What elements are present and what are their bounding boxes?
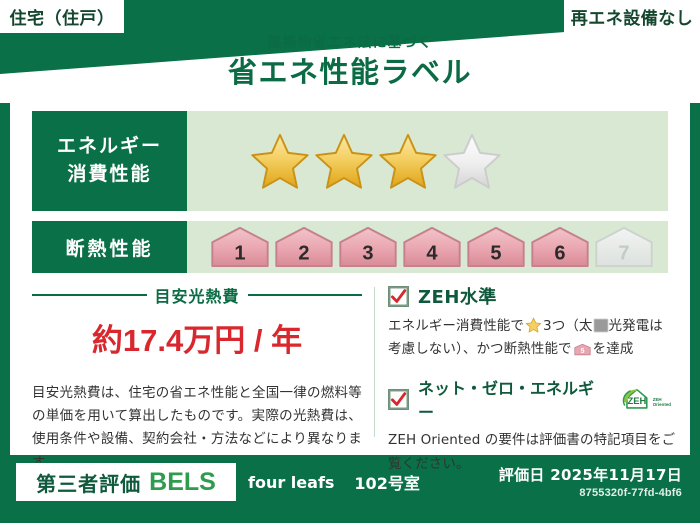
house-icon-level-6: 6 — [529, 226, 591, 268]
cost-heading: 目安光熱費 — [155, 283, 240, 307]
label-footer: 第三者評価 BELS four leafs 102号室 評価日 2025年11月… — [0, 455, 700, 523]
house-icon-level-4: 4 — [401, 226, 463, 268]
net-zero-energy-header: ネット・ゼロ・エネルギー ZEH ZEH Oriented — [388, 375, 676, 423]
cost-heading-row: 目安光熱費 — [32, 283, 362, 307]
zeh-logo-text: ZEH — [628, 395, 647, 406]
inline-insulation-badge-number: 5 — [580, 348, 584, 355]
star-rating — [187, 131, 503, 191]
zeh-standard-header: ZEH水準 — [388, 283, 676, 309]
bels-jp-label: 第三者評価 — [36, 468, 141, 497]
star-icon-filled-1 — [249, 131, 311, 191]
insulation-level-scale: 1 2 3 4 — [187, 226, 655, 268]
star-icon-filled-3 — [377, 131, 439, 191]
zeh-standard-block: ZEH水準 エネルギー消費性能で3つ（太光発電は考慮しない）、かつ断熱性能で5を… — [388, 283, 676, 361]
column-divider — [374, 287, 375, 437]
bels-badge: 第三者評価 BELS — [16, 463, 236, 501]
evaluation-date: 評価日 2025年11月17日 — [499, 464, 682, 485]
house-icon-level-3: 3 — [337, 226, 399, 268]
tag-housing-type: 住宅（住戸） — [0, 0, 124, 33]
estimated-utility-cost-section: 目安光熱費 約17.4万円 / 年 目安光熱費は、住宅の省エネ性能と全国一律の燃… — [32, 283, 362, 475]
insulation-performance-row: 断熱性能 — [32, 221, 668, 273]
zeh-body-part1: エネルギー消費性能で — [388, 318, 524, 334]
zeh-standard-title: ZEH水準 — [418, 283, 497, 309]
zeh-body-part4: を達成 — [593, 341, 634, 357]
energy-label-line1: エネルギー — [57, 133, 162, 161]
heading-rule-right — [248, 294, 363, 296]
zeh-oriented-logo: ZEH ZEH Oriented — [620, 385, 676, 413]
energy-label-line2: 消費性能 — [67, 161, 151, 189]
net-zero-energy-title: ネット・ゼロ・エネルギー — [418, 375, 608, 423]
bels-en-label: BELS — [149, 468, 216, 497]
room-number: 102号室 — [354, 470, 419, 494]
page-title: 省エネ性能ラベル — [0, 54, 700, 90]
tag-renewable-equipment: 再エネ設備なし — [564, 0, 700, 33]
zeh-body-part2: 3つ（太 — [543, 318, 593, 334]
house-icon-level-7-empty: 7 — [593, 226, 655, 268]
house-icon-inline-badge: 5 — [574, 342, 591, 357]
energy-performance-row: エネルギー 消費性能 — [32, 111, 668, 211]
star-icon-empty-4 — [441, 131, 503, 191]
building-name: four leafs — [248, 473, 334, 492]
energy-performance-value — [187, 111, 668, 211]
building-info: four leafs 102号室 — [248, 463, 420, 501]
house-level-number: 2 — [298, 242, 309, 264]
checkmark-icon-net-zero[interactable] — [388, 389, 409, 410]
house-level-number: 5 — [490, 242, 501, 264]
label-body-card: エネルギー 消費性能 — [10, 103, 690, 455]
house-level-number: 3 — [362, 242, 373, 264]
cost-value: 約17.4万円 / 年 — [32, 315, 362, 360]
star-icon-inline — [525, 317, 542, 333]
zeh-standard-body: エネルギー消費性能で3つ（太光発電は考慮しない）、かつ断熱性能で5を達成 — [388, 315, 676, 361]
insulation-performance-value: 1 2 3 4 — [187, 221, 668, 273]
evaluation-id: 8755320f-77fd-4bf6 — [579, 487, 682, 499]
house-icon-level-2: 2 — [273, 226, 335, 268]
header-title-group: 建築物省エネ法に基づく 省エネ性能ラベル — [0, 36, 700, 90]
insulation-performance-label-box: 断熱性能 — [32, 221, 187, 273]
zeh-logo-sub-line1: ZEH — [653, 397, 662, 402]
redacted-character — [594, 319, 608, 332]
energy-performance-label-box: エネルギー 消費性能 — [32, 111, 187, 211]
zeh-logo-sub-line2: Oriented — [653, 402, 672, 407]
checkmark-icon-zeh-standard[interactable] — [388, 286, 409, 307]
house-level-number: 6 — [554, 242, 565, 264]
house-icon-level-1: 1 — [209, 226, 271, 268]
star-icon-filled-2 — [313, 131, 375, 191]
house-level-number: 4 — [426, 242, 438, 264]
energy-performance-label: 建築物省エネ法に基づく 省エネ性能ラベル 住宅（住戸） 再エネ設備なし エネルギ… — [0, 0, 700, 523]
house-level-number: 7 — [618, 242, 629, 264]
house-icon-level-5: 5 — [465, 226, 527, 268]
house-level-number: 1 — [234, 242, 245, 264]
header-subtitle: 建築物省エネ法に基づく — [0, 36, 700, 50]
heading-rule-left — [32, 294, 147, 296]
insulation-label: 断熱性能 — [65, 234, 153, 261]
